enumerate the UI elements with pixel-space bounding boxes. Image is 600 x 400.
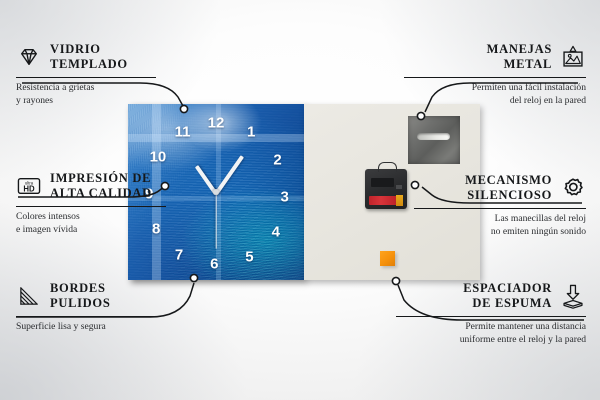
gear-icon [560, 175, 586, 201]
clock-numeral-5: 5 [245, 250, 253, 265]
mechanism-hook [378, 162, 397, 172]
callout-espaciador-espuma: ESPACIADOR DE ESPUMA Permite mantener un… [396, 281, 586, 347]
clock-numeral-10: 10 [150, 149, 167, 164]
callout-vidrio-templado: VIDRIO TEMPLADO Resistencia a grietas y … [16, 42, 156, 108]
callout-subtitle: Resistencia a grietas y rayones [16, 82, 156, 108]
metal-hanger-plate [408, 116, 460, 164]
callout-title: IMPRESIÓN DE ALTA CALIDAD [50, 171, 152, 201]
mechanism-detail-dot [396, 185, 402, 189]
mechanism-label-chip [396, 195, 403, 206]
quartz-movement-mechanism [365, 169, 407, 209]
hanger-slot [417, 133, 450, 140]
mechanism-body-bar [371, 178, 394, 187]
polished-edge-icon [16, 283, 42, 309]
callout-impresion-alta-calidad: ultra HD IMPRESIÓN DE ALTA CALIDAD Color… [16, 171, 166, 237]
clock-second-hand [215, 193, 216, 249]
callout-subtitle: Permite mantener una distancia uniforme … [396, 321, 586, 347]
callout-rule [404, 77, 586, 79]
callout-subtitle: Permiten una fácil instalación del reloj… [404, 82, 586, 108]
callout-subtitle: Superficie lisa y segura [16, 321, 161, 334]
callout-title: MECANISMO SILENCIOSO [465, 173, 552, 203]
callout-title: ESPACIADOR DE ESPUMA [463, 281, 552, 311]
ultra-hd-icon-bottom-text: HD [23, 184, 35, 193]
clock-numeral-1: 1 [247, 125, 255, 140]
callout-subtitle: Las manecillas del reloj no emiten ningú… [414, 213, 586, 239]
callout-mecanismo-silencioso: MECANISMO SILENCIOSO Las manecillas del … [414, 173, 586, 239]
callout-rule [414, 208, 586, 210]
clock-numeral-12: 12 [208, 116, 225, 131]
ultra-hd-icon: ultra HD [16, 173, 42, 199]
picture-hanger-icon [560, 44, 586, 70]
clock-numeral-4: 4 [272, 225, 280, 240]
clock-numeral-11: 11 [175, 125, 191, 140]
callout-title: MANEJAS METAL [487, 42, 552, 72]
callout-rule [396, 316, 586, 318]
callout-subtitle: Colores intensos e imagen vívida [16, 211, 166, 237]
callout-rule [16, 206, 166, 208]
foam-spacer-pad [380, 251, 395, 266]
clock-numeral-6: 6 [210, 257, 218, 272]
callout-bordes-pulidos: BORDES PULIDOS Superficie lisa y segura [16, 281, 161, 334]
callout-rule [16, 316, 161, 318]
clock-minute-hand [214, 155, 244, 195]
foam-spacer-icon [560, 283, 586, 309]
callout-rule [16, 77, 156, 79]
callout-title: BORDES PULIDOS [50, 281, 110, 311]
infographic-canvas: 12 1 2 3 4 5 6 7 8 9 10 11 [0, 0, 600, 400]
mechanism-battery [369, 196, 399, 205]
clock-center-pivot [213, 189, 219, 195]
callout-title: VIDRIO TEMPLADO [50, 42, 128, 72]
callout-manejas-metal: MANEJAS METAL Permiten una fácil instala… [404, 42, 586, 108]
clock-numeral-7: 7 [175, 248, 183, 263]
diamond-icon [16, 44, 42, 70]
clock-numeral-2: 2 [273, 153, 281, 168]
glass-reflection-horizontal-1 [128, 134, 304, 142]
clock-numeral-3: 3 [280, 190, 288, 205]
